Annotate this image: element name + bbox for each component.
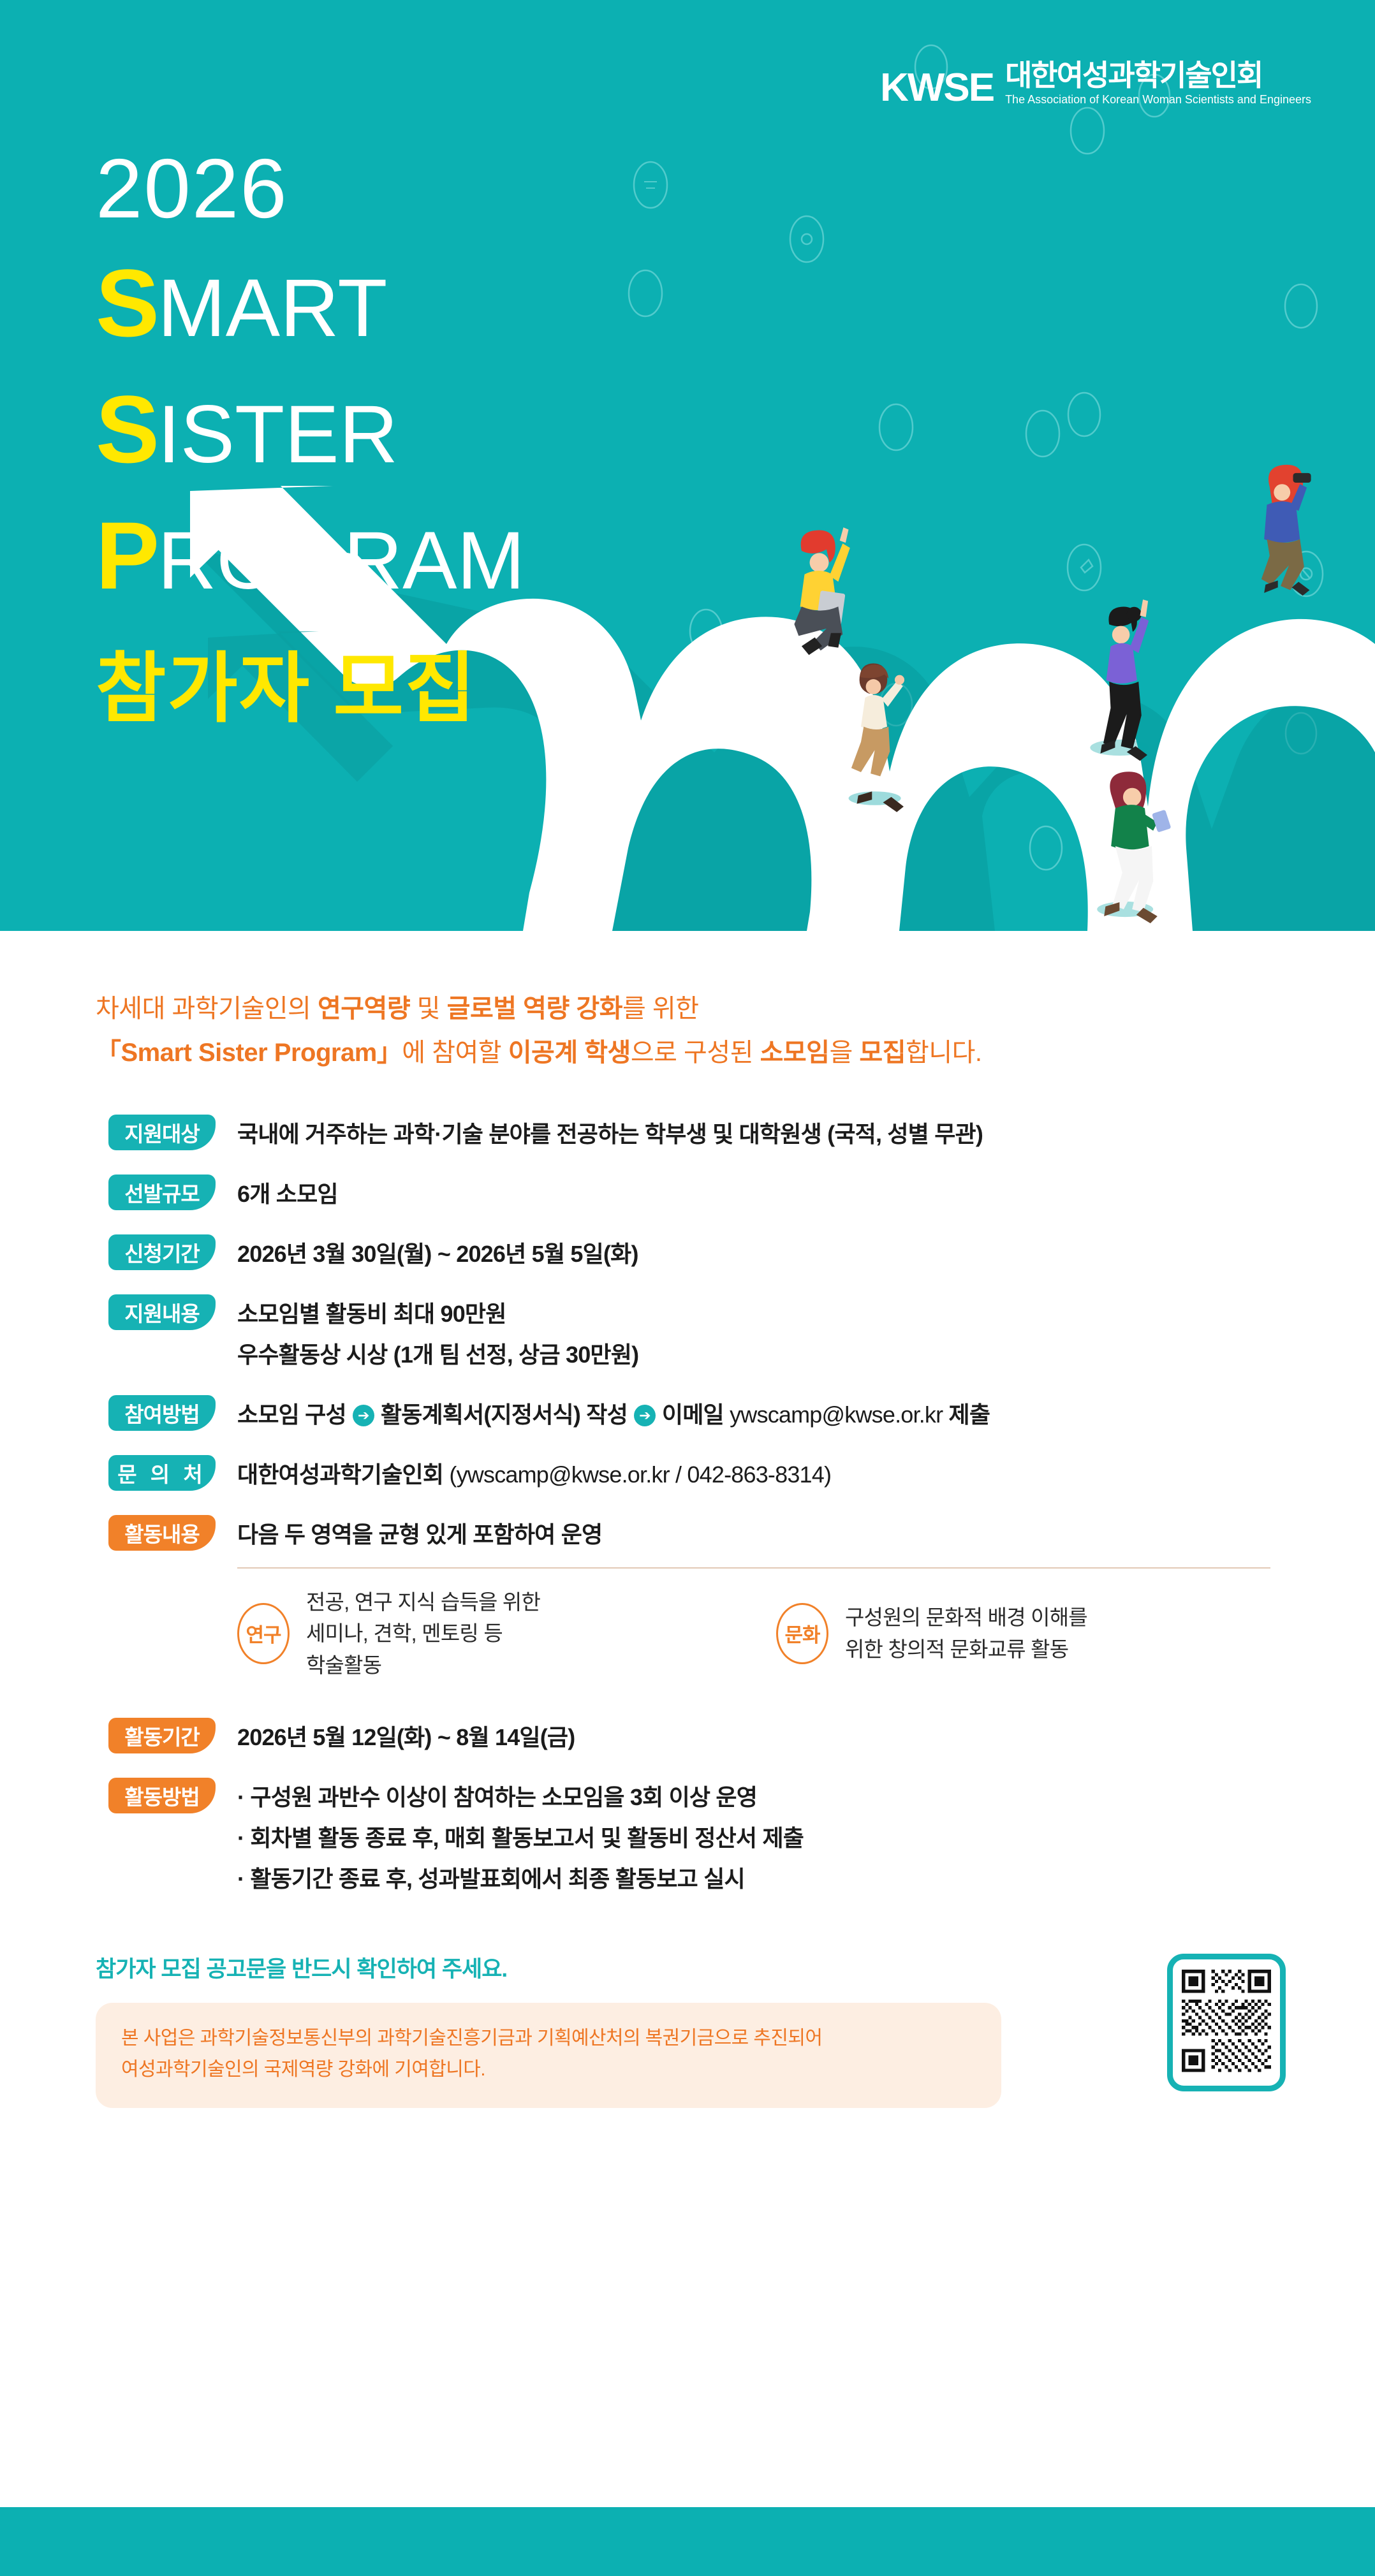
tag-application-period: 신청기간 <box>108 1234 216 1270</box>
activity-divider <box>237 1567 1270 1569</box>
value-support-target-line-1: 국내에 거주하는 과학·기술 분야를 전공하는 학부생 및 대학원생 (국적, … <box>237 1117 1375 1152</box>
footer: 참가자 모집 공고문을 반드시 확인하여 주세요. 본 사업은 과학기술정보통신… <box>0 1951 1375 2108</box>
value-selection-scale-line-1: 6개 소모임 <box>237 1177 1375 1211</box>
row-participation-method: 참여방법 소모임 구성➔활동계획서(지정서식) 작성➔이메일 ywscamp@k… <box>0 1395 1375 1432</box>
intro-1d: 글로벌 역량 강화 <box>447 995 622 1023</box>
hero-cap-s2: S <box>96 376 158 483</box>
intro-2h: 합니다. <box>906 1039 982 1067</box>
row-selection-scale: 선발규모 6개 소모임 <box>0 1175 1375 1211</box>
hero-line-smart: SMART <box>96 240 525 366</box>
intro-1b: 연구역량 <box>318 995 410 1023</box>
hero-line-sister: SISTER <box>96 366 525 492</box>
value-activity-method: · 구성원 과반수 이상이 참여하는 소모임을 3회 이상 운영 · 회차별 활… <box>237 1778 1375 1896</box>
arrow-right-icon-2: ➔ <box>634 1405 656 1426</box>
tag-contact: 문 의 처 <box>108 1455 216 1491</box>
hero-rest-smart: MART <box>158 263 387 354</box>
value-support-content-line-1: 소모임별 활동비 최대 90만원 <box>237 1297 1375 1331</box>
intro-2g: 모집 <box>859 1039 906 1067</box>
arrow-right-icon-1: ➔ <box>353 1405 374 1426</box>
badge-research: 연구 <box>237 1603 290 1664</box>
poster: KWSE 대한여성과학기술인회 The Association of Korea… <box>0 0 1375 2576</box>
value-activity-headline: 다음 두 영역을 균형 있게 포함하여 운영 <box>237 1515 1375 1552</box>
value-application-period: 2026년 3월 30일(월) ~ 2026년 5월 5일(화) <box>237 1234 1375 1271</box>
intro-1e: 를 위한 <box>622 995 699 1023</box>
activity-culture-line-2: 위한 창의적 문화교류 활동 <box>845 1634 1087 1665</box>
row-support-target: 지원대상 국내에 거주하는 과학·기술 분야를 전공하는 학부생 및 대학원생 … <box>0 1115 1375 1152</box>
tag-selection-scale: 선발규모 <box>108 1175 216 1210</box>
intro-2c: 이공계 학생 <box>508 1039 631 1067</box>
footer-funding-line-2: 여성과학기술인의 국제역량 강화에 기여합니다. <box>121 2054 976 2086</box>
hero-year: 2026 <box>96 147 525 231</box>
bottom-color-band <box>0 2507 1375 2576</box>
value-selection-scale: 6개 소모임 <box>237 1175 1375 1211</box>
value-application-period-line-1: 2026년 3월 30일(월) ~ 2026년 5월 5일(화) <box>237 1237 1375 1271</box>
activity-content-block: 활동내용 다음 두 영역을 균형 있게 포함하여 운영 연구 전공, 연구 지식… <box>0 1515 1375 1681</box>
activity-research-line-2: 세미나, 견학, 멘토링 등 <box>306 1618 540 1650</box>
logo-english-name: The Association of Korean Woman Scientis… <box>1005 93 1311 107</box>
hero-rest-sister: ISTER <box>158 389 398 480</box>
intro-2b: 에 참여할 <box>402 1039 508 1067</box>
footer-notice: 참가자 모집 공고문을 반드시 확인하여 주세요. <box>96 1951 1129 1984</box>
activity-columns: 연구 전공, 연구 지식 습득을 위한 세미나, 견학, 멘토링 등 학술활동 … <box>237 1586 1270 1681</box>
participation-step-3-prefix: 이메일 <box>662 1401 730 1428</box>
activity-research-line-1: 전공, 연구 지식 습득을 위한 <box>306 1586 540 1618</box>
intro-1c: 및 <box>410 995 447 1023</box>
hero-cap-s1: S <box>96 249 158 356</box>
hero-rest-program: ROGRAM <box>158 515 525 606</box>
hero-cap-p: P <box>96 502 158 609</box>
intro-line-2: 「Smart Sister Program」에 참여할 이공계 학생으로 구성된… <box>96 1031 1375 1075</box>
content-area: 차세대 과학기술인의 연구역량 및 글로벌 역량 강화를 위한 「Smart S… <box>0 987 1375 2108</box>
value-activity-method-line-1: · 구성원 과반수 이상이 참여하는 소모임을 3회 이상 운영 <box>237 1780 1375 1815</box>
intro-paragraph: 차세대 과학기술인의 연구역량 및 글로벌 역량 강화를 위한 「Smart S… <box>96 987 1375 1075</box>
activity-column-culture: 문화 구성원의 문화적 배경 이해를 위한 창의적 문화교류 활동 <box>776 1586 1270 1681</box>
value-activity-method-line-3: · 활동기간 종료 후, 성과발표회에서 최종 활동보고 실시 <box>237 1862 1375 1896</box>
intro-2f: 을 <box>829 1039 859 1067</box>
logo-korean-name: 대한여성과학기술인회 <box>1005 61 1311 90</box>
tag-participation-method: 참여방법 <box>108 1395 216 1431</box>
value-participation-method: 소모임 구성➔활동계획서(지정서식) 작성➔이메일 ywscamp@kwse.o… <box>237 1395 1375 1432</box>
intro-2d: 으로 구성된 <box>631 1039 760 1067</box>
participation-step-1: 소모임 구성 <box>237 1401 346 1428</box>
participation-step-3-suffix: 제출 <box>943 1401 990 1428</box>
info-rows: 지원대상 국내에 거주하는 과학·기술 분야를 전공하는 학부생 및 대학원생 … <box>0 1115 1375 1492</box>
hero-recruit-title: 참가자 모집 <box>96 647 525 731</box>
value-support-content: 소모임별 활동비 최대 90만원 우수활동상 시상 (1개 팀 선정, 상금 3… <box>237 1294 1375 1372</box>
footer-left: 참가자 모집 공고문을 반드시 확인하여 주세요. 본 사업은 과학기술정보통신… <box>96 1951 1167 2108</box>
value-support-target: 국내에 거주하는 과학·기술 분야를 전공하는 학부생 및 대학원생 (국적, … <box>237 1115 1375 1152</box>
kwse-logo: KWSE 대한여성과학기술인회 The Association of Korea… <box>880 61 1311 107</box>
hero-banner: KWSE 대한여성과학기술인회 The Association of Korea… <box>0 0 1375 931</box>
participation-email[interactable]: ywscamp@kwse.or.kr <box>730 1401 943 1428</box>
intro-line-1: 차세대 과학기술인의 연구역량 및 글로벌 역량 강화를 위한 <box>96 987 1375 1031</box>
qr-code-icon <box>1179 1965 1274 2080</box>
value-activity-period-line-1: 2026년 5월 12일(화) ~ 8월 14일(금) <box>237 1720 1375 1755</box>
row-application-period: 신청기간 2026년 3월 30일(월) ~ 2026년 5월 5일(화) <box>0 1234 1375 1271</box>
intro-2a: 「Smart Sister Program」 <box>96 1039 402 1067</box>
value-activity-method-line-2: · 회차별 활동 종료 후, 매회 활동보고서 및 활동비 정산서 제출 <box>237 1821 1375 1855</box>
row-contact: 문 의 처 대한여성과학기술인회 (ywscamp@kwse.or.kr / 0… <box>0 1455 1375 1492</box>
participation-step-2: 활동계획서(지정서식) 작성 <box>381 1401 628 1428</box>
hero-headline: 2026 SMART SISTER PROGRAM 참가자 모집 <box>96 147 525 731</box>
activity-column-research: 연구 전공, 연구 지식 습득을 위한 세미나, 견학, 멘토링 등 학술활동 <box>237 1586 732 1681</box>
footer-funding-line-1: 본 사업은 과학기술정보통신부의 과학기술진흥기금과 기획예산처의 복권기금으로… <box>121 2023 976 2054</box>
activity-research-line-3: 학술활동 <box>306 1650 540 1681</box>
activity-culture-line-1: 구성원의 문화적 배경 이해를 <box>845 1602 1087 1634</box>
contact-detail[interactable]: (ywscamp@kwse.or.kr / 042-863-8314) <box>449 1461 831 1488</box>
activity-header: 활동내용 다음 두 영역을 균형 있게 포함하여 운영 <box>108 1515 1375 1552</box>
tag-activity-period: 활동기간 <box>108 1718 216 1753</box>
activity-rows: 활동기간 2026년 5월 12일(화) ~ 8월 14일(금) 활동방법 · … <box>0 1718 1375 1896</box>
badge-culture: 문화 <box>776 1603 828 1664</box>
hero-line-program: PROGRAM <box>96 492 525 618</box>
tag-support-content: 지원내용 <box>108 1294 216 1330</box>
footer-funding-box: 본 사업은 과학기술정보통신부의 과학기술진흥기금과 기획예산처의 복권기금으로… <box>96 2003 1001 2108</box>
activity-research-text: 전공, 연구 지식 습득을 위한 세미나, 견학, 멘토링 등 학술활동 <box>306 1586 540 1681</box>
row-support-content: 지원내용 소모임별 활동비 최대 90만원 우수활동상 시상 (1개 팀 선정,… <box>0 1294 1375 1372</box>
tag-support-target: 지원대상 <box>108 1115 216 1150</box>
value-contact: 대한여성과학기술인회 (ywscamp@kwse.or.kr / 042-863… <box>237 1455 1375 1492</box>
row-activity-method: 활동방법 · 구성원 과반수 이상이 참여하는 소모임을 3회 이상 운영 · … <box>0 1778 1375 1896</box>
activity-culture-text: 구성원의 문화적 배경 이해를 위한 창의적 문화교류 활동 <box>845 1602 1087 1665</box>
qr-code-wrap[interactable] <box>1167 1954 1286 2091</box>
row-activity-period: 활동기간 2026년 5월 12일(화) ~ 8월 14일(금) <box>0 1718 1375 1755</box>
logo-mark-text: KWSE <box>880 70 994 107</box>
intro-2e: 소모임 <box>760 1039 830 1067</box>
tag-activity-content: 활동내용 <box>108 1515 216 1551</box>
contact-org: 대한여성과학기술인회 <box>237 1461 443 1488</box>
qr-code[interactable] <box>1167 1954 1286 2091</box>
value-activity-period: 2026년 5월 12일(화) ~ 8월 14일(금) <box>237 1718 1375 1755</box>
intro-1a: 차세대 과학기술인의 <box>96 995 318 1023</box>
tag-activity-method: 활동방법 <box>108 1778 216 1813</box>
value-support-content-line-2: 우수활동상 시상 (1개 팀 선정, 상금 30만원) <box>237 1338 1375 1372</box>
